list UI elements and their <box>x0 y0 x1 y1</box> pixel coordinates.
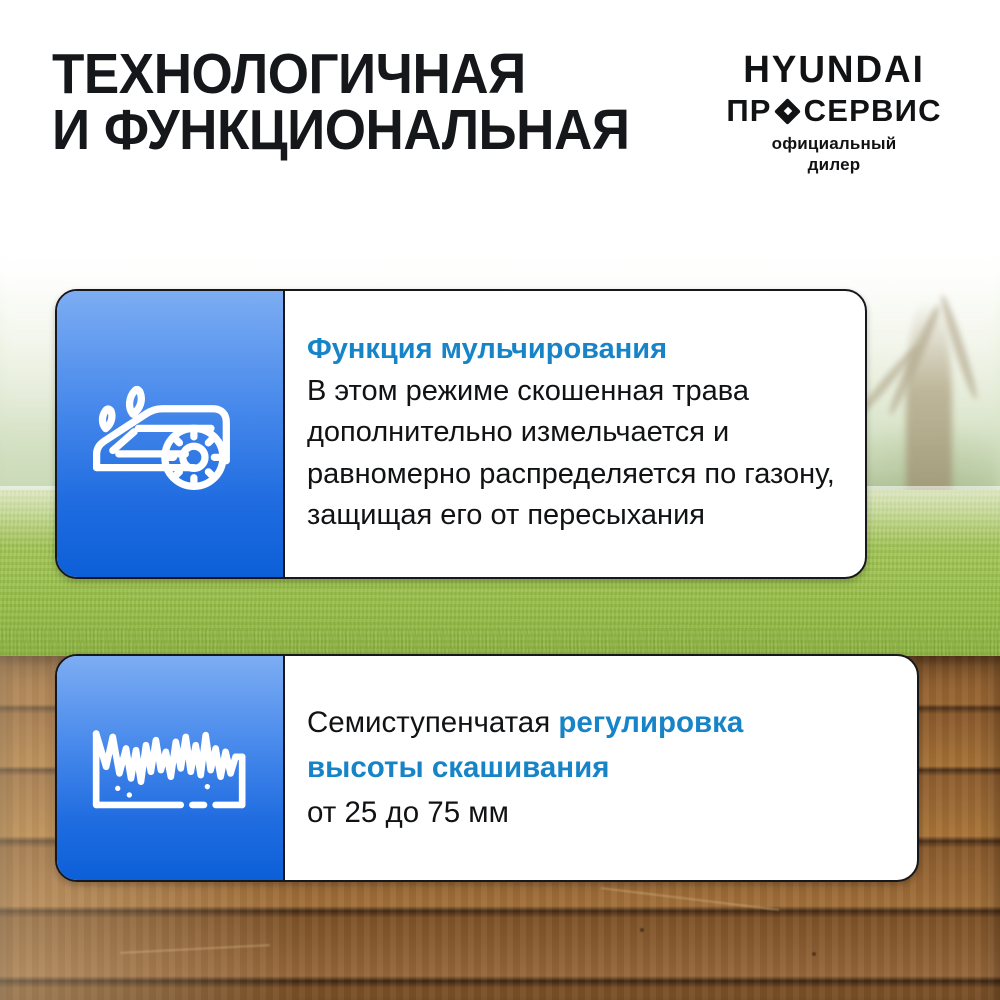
feature-card-body: Функция мульчирования В этом режиме скош… <box>285 291 865 577</box>
feature-card-range: от 25 до 75 мм <box>307 796 509 829</box>
feature-icon-tile <box>57 656 285 880</box>
poster: ТЕХНОЛОГИЧНАЯ И ФУНКЦИОНАЛЬНАЯ HYUNDAI П… <box>0 0 1000 1000</box>
feature-card-list: Функция мульчирования В этом режиме скош… <box>0 0 1000 1000</box>
feature-icon-tile <box>57 291 285 577</box>
feature-card-body: Семиступенчатая регулировка высоты скаши… <box>285 656 917 880</box>
feature-card-text: Функция мульчирования В этом режиме скош… <box>307 329 847 537</box>
feature-card-title: Функция мульчирования <box>307 333 667 365</box>
feature-card-cutting-height: Семиступенчатая регулировка высоты скаши… <box>55 654 919 882</box>
mower-wheel-icon <box>165 428 223 486</box>
robot-lawn-mower-mulching-icon <box>84 372 256 500</box>
feature-card-accent-line-1: регулировка <box>558 706 743 739</box>
feature-card-lead: Семиступенчатая <box>307 706 550 739</box>
feature-card-mulching: Функция мульчирования В этом режиме скош… <box>55 289 867 579</box>
feature-card-text: Семиступенчатая регулировка высоты скаши… <box>307 700 899 835</box>
feature-card-description: В этом режиме скошенная трава дополнител… <box>307 375 835 532</box>
grass-cutting-height-icon <box>82 712 258 824</box>
feature-card-accent-line-2: высоты скашивания <box>307 751 609 784</box>
